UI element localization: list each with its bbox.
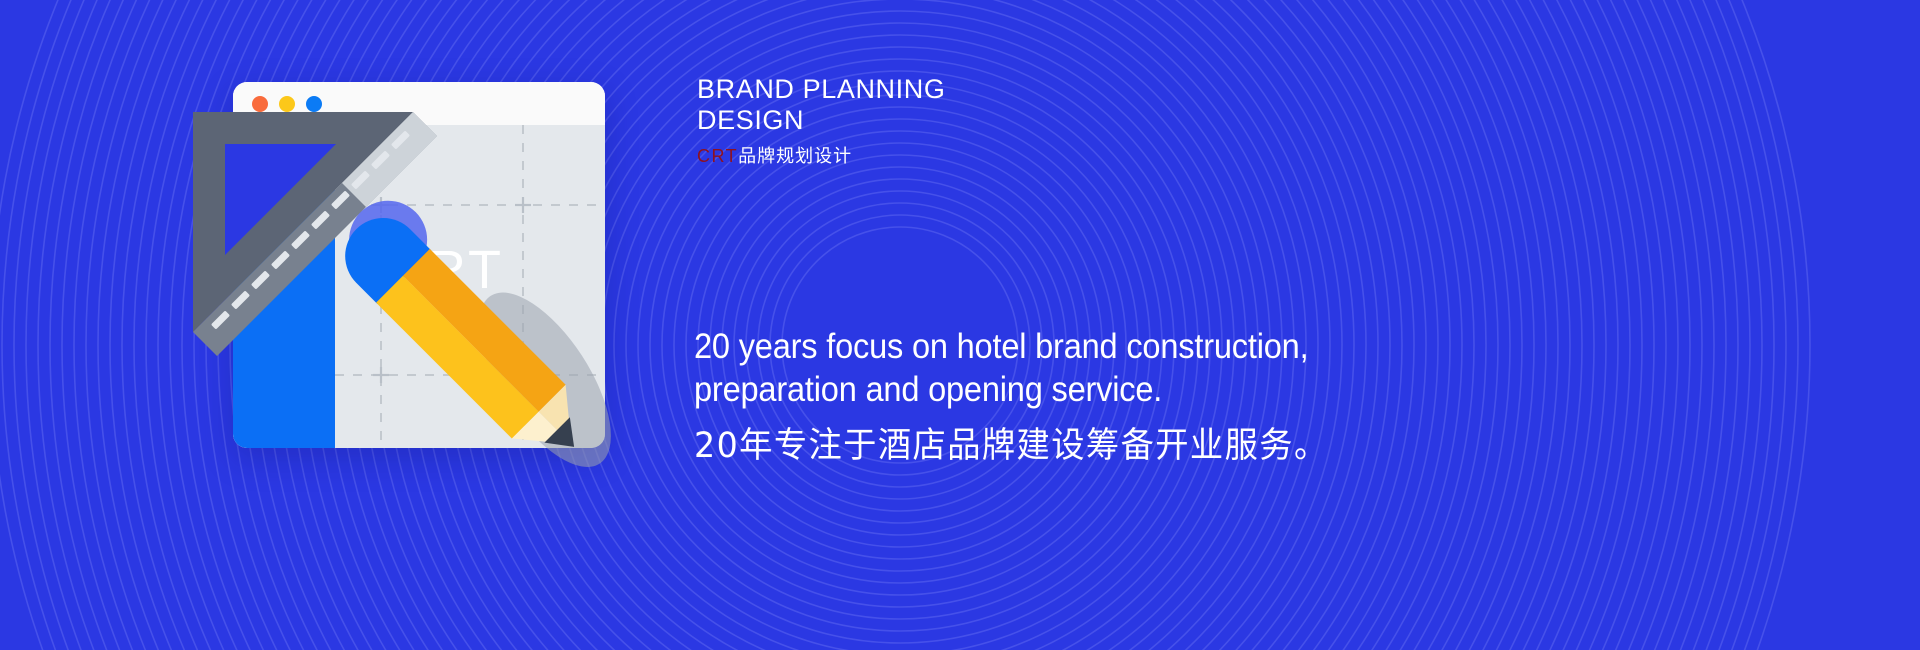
eyebrow-title-en: BRAND PLANNING DESIGN (697, 74, 1157, 135)
hero-banner: CRT (0, 0, 1920, 650)
headline-chinese: 20年专注于酒店品牌建设筹备开业服务。 (694, 425, 1739, 467)
headline-block: 20 years focus on hotel brand constructi… (694, 325, 1794, 467)
eyebrow-title-cn: CRT品牌规划设计 (697, 142, 1157, 168)
eyebrow-block: BRAND PLANNING DESIGN CRT品牌规划设计 (697, 74, 1157, 168)
brand-mark-crt: CRT (697, 146, 738, 166)
hero-illustration: CRT (180, 55, 720, 595)
eyebrow-cn-label: 品牌规划设计 (738, 146, 852, 167)
headline-english: 20 years focus on hotel brand constructi… (694, 325, 1717, 411)
pencil-icon (180, 55, 720, 595)
